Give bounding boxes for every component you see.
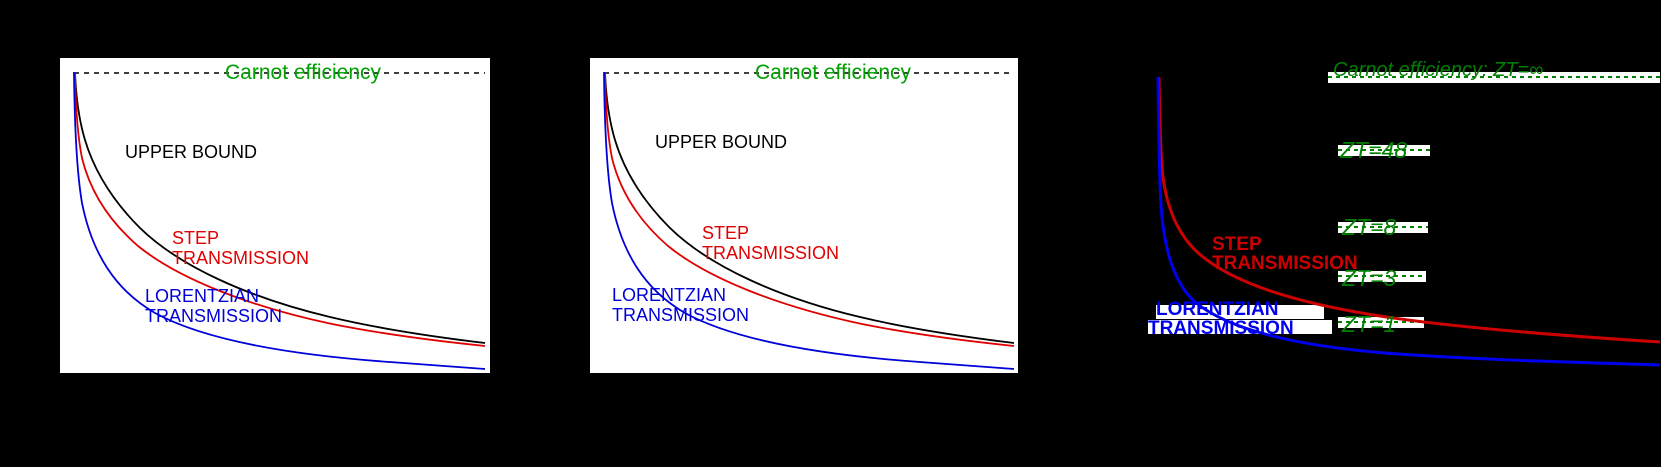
panel-2: Carnot efficiency UPPER BOUND STEP TRANS… [590, 58, 1018, 373]
lorentzian-transmission-label-line1: LORENTZIAN [145, 287, 259, 306]
step-transmission-label-line2: TRANSMISSION [1212, 254, 1358, 275]
step-transmission-label-line1: STEP [172, 229, 219, 248]
panel-3: Carnot efficiency: ZT=∞ ZT=48 ZT=8 ZT=3 … [1120, 50, 1661, 390]
lorentzian-transmission-label-line2: TRANSMISSION [612, 306, 749, 325]
panel-2-svg [590, 58, 1018, 373]
lorentzian-transmission-label-line2: TRANSMISSION [1148, 319, 1294, 340]
zt-48-label: ZT=48 [1340, 138, 1407, 163]
lorentzian-transmission-label-line2: TRANSMISSION [145, 307, 282, 326]
upper-bound-label: UPPER BOUND [125, 143, 257, 162]
upper-bound-label: UPPER BOUND [655, 133, 787, 152]
panel-1: Carnot efficiency UPPER BOUND STEP TRANS… [60, 58, 490, 373]
step-transmission-label-line2: TRANSMISSION [702, 244, 839, 263]
upper-bound-curve [75, 72, 485, 343]
step-transmission-curve [75, 72, 485, 346]
zt-1-label: ZT=1 [1342, 312, 1396, 337]
lorentzian-transmission-label-line1: LORENTZIAN [612, 286, 726, 305]
zt-8-label: ZT=8 [1342, 215, 1396, 240]
carnot-efficiency-label: Carnot efficiency [225, 62, 381, 85]
step-transmission-label-line1: STEP [702, 224, 749, 243]
panel-2-plot-area [590, 58, 1018, 373]
carnot-efficiency-zt-infinity-label: Carnot efficiency: ZT=∞ [1333, 60, 1543, 82]
carnot-efficiency-label: Carnot efficiency [755, 62, 911, 85]
step-transmission-label-line2: TRANSMISSION [172, 249, 309, 268]
